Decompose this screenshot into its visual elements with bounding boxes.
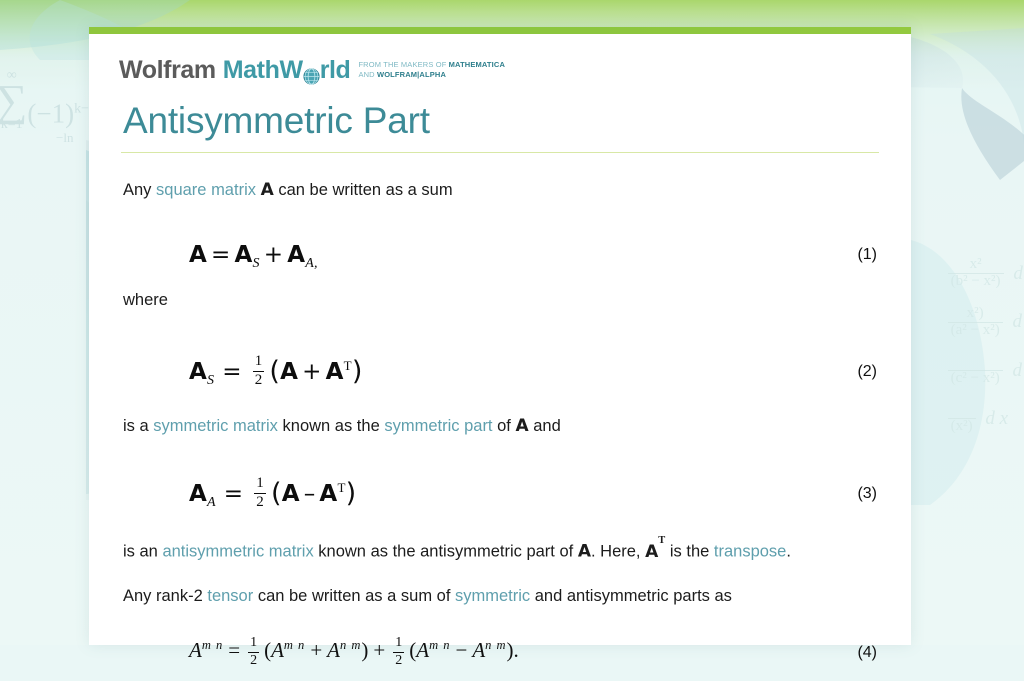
eq2-term2: A (326, 359, 344, 385)
eq4-close-paren-1: ) (361, 638, 368, 662)
paragraph-symmetric: is a symmetric matrix known as the symme… (123, 411, 879, 441)
eq3-equals: = (224, 481, 243, 507)
link-square-matrix[interactable]: square matrix (156, 181, 256, 199)
inline-matrix-A-transpose: AT (645, 542, 665, 562)
tagline-prefix-2: AND (358, 70, 377, 79)
eq4-frac1-num: 1 (248, 636, 259, 651)
eq4-term-4: A (472, 638, 485, 662)
eq4-lhs: A (189, 638, 202, 662)
eq1-term2: A (287, 242, 305, 268)
eq4-frac2-den: 2 (393, 654, 404, 669)
logo-world-w: W (279, 56, 302, 84)
p3-post: and (529, 417, 561, 435)
logo-world-rest: rld (320, 56, 351, 84)
inline-matrix-A: A (578, 542, 591, 562)
eq2-lhs: A (189, 359, 207, 385)
p5-post: and antisymmetric parts as (530, 587, 732, 605)
eq4-operator-2: − (455, 638, 467, 662)
tagline-mathematica: MATHEMATICA (449, 60, 505, 69)
equation-1-number: (1) (857, 246, 877, 264)
p5-pre: Any rank-2 (123, 587, 207, 605)
eq4-frac2-num: 1 (393, 636, 404, 651)
eq4-frac1-bar (248, 652, 259, 653)
link-symmetric-matrix[interactable]: symmetric matrix (153, 417, 278, 435)
eq2-term2-sup: T (344, 358, 352, 373)
p5-mid1: can be written as a sum of (253, 587, 455, 605)
eq3-operator: – (304, 481, 316, 507)
equation-4-number: (4) (857, 644, 877, 662)
eq4-term-4-sup: n m (485, 638, 506, 652)
eq3-open-paren: ( (271, 478, 282, 509)
p4-pre: is an (123, 543, 162, 561)
p4-var2-sup: T (658, 535, 665, 546)
eq1-term1: A (235, 242, 253, 268)
eq2-close-paren: ) (352, 356, 363, 387)
globe-icon (303, 63, 320, 80)
eq1-plus: + (264, 242, 283, 268)
eq3-term2: A (319, 481, 337, 507)
eq4-fraction-half-2: 12 (393, 636, 404, 668)
tagline-line-1: FROM THE MAKERS OF MATHEMATICA (358, 60, 505, 69)
eq3-term1: A (282, 481, 300, 507)
article-card: Wolfram MathW rld FROM THE MAKERS OF MAT… (89, 27, 911, 645)
eq1-term1-sub: S (253, 256, 260, 271)
eq4-frac1-den: 2 (248, 654, 259, 669)
inline-matrix-A: A (261, 180, 274, 200)
eq3-lhs: A (189, 481, 207, 507)
eq4-term-3-sup: m n (429, 638, 450, 652)
eq4-term-1-sup: m n (284, 638, 305, 652)
link-transpose[interactable]: transpose (714, 543, 786, 561)
paragraph-antisymmetric: is an antisymmetric matrix known as the … (123, 533, 879, 567)
equation-1-body: A=AS+AA, (189, 242, 318, 268)
equation-3: AA=12(A–AT) (3) (119, 455, 879, 533)
eq4-equals: = (228, 638, 240, 662)
link-symmetric-part[interactable]: symmetric part (384, 417, 492, 435)
eq4-fraction-half-1: 12 (248, 636, 259, 668)
eq3-close-paren: ) (346, 478, 357, 509)
tagline-prefix-1: FROM THE MAKERS OF (358, 60, 448, 69)
paragraph-where: where (123, 285, 879, 315)
equation-1: A=AS+AA, (1) (119, 225, 879, 285)
logo-tagline: FROM THE MAKERS OF MATHEMATICA AND WOLFR… (358, 60, 505, 79)
equation-2-number: (2) (857, 363, 877, 381)
eq3-fraction-half: 12 (254, 476, 266, 511)
eq4-lhs-sup: m n (202, 638, 223, 652)
eq4-frac2-bar (393, 652, 404, 653)
equation-2: AS=12(A+AT) (2) (119, 333, 879, 411)
eq4-term-1: A (271, 638, 284, 662)
link-tensor[interactable]: tensor (207, 587, 253, 605)
p3-mid2: of (493, 417, 516, 435)
eq3-lhs-sub: A (207, 495, 216, 510)
equation-2-body: AS=12(A+AT) (189, 355, 363, 390)
eq2-operator: + (302, 359, 321, 385)
eq4-term-2: A (327, 638, 340, 662)
eq4-term-3: A (416, 638, 429, 662)
eq2-open-paren: ( (269, 356, 280, 387)
inline-matrix-A: A (515, 416, 528, 436)
p3-mid1: known as the (278, 417, 384, 435)
eq2-term1: A (280, 359, 298, 385)
equation-4: Am n=12(Am n+An m)+12(Am n−An m). (4) (119, 625, 879, 681)
eq3-frac-den: 2 (254, 495, 266, 511)
eq4-period: . (514, 638, 519, 662)
p4-post: . (786, 543, 791, 561)
logo-wolfram-text: Wolfram (119, 56, 216, 84)
p4-mid3: is the (665, 543, 714, 561)
eq4-close-paren-2: ) (507, 638, 514, 662)
card-top-accent-bar (89, 27, 911, 34)
eq3-frac-num: 1 (254, 476, 266, 492)
tagline-wolframalpha: WOLFRAM|ALPHA (377, 70, 446, 79)
eq4-term-2-sup: n m (340, 638, 361, 652)
eq4-operator-1: + (310, 638, 322, 662)
logo-math-text: Math (223, 56, 280, 84)
eq4-plus: + (373, 638, 385, 662)
eq2-equals: = (222, 359, 241, 385)
eq1-comma: , (314, 256, 318, 271)
p4-mid2: . Here, (591, 543, 645, 561)
p3-pre: is a (123, 417, 153, 435)
p4-mid1: known as the antisymmetric part of (314, 543, 578, 561)
eq2-frac-num: 1 (253, 354, 265, 370)
equation-3-number: (3) (857, 485, 877, 503)
p1-post: can be written as a sum (274, 181, 453, 199)
equation-3-body: AA=12(A–AT) (189, 477, 356, 512)
paragraph-intro: Any square matrix A can be written as a … (123, 175, 879, 205)
eq3-term2-sup: T (337, 480, 345, 495)
paragraph-tensor: Any rank-2 tensor can be written as a su… (123, 581, 879, 611)
tagline-line-2: AND WOLFRAM|ALPHA (358, 70, 446, 79)
eq2-lhs-sub: S (207, 373, 214, 388)
title-divider (121, 152, 879, 153)
p4-var2: A (645, 542, 658, 562)
p1-pre: Any (123, 181, 156, 199)
site-logo[interactable]: Wolfram MathW rld FROM THE MAKERS OF MAT… (119, 56, 879, 86)
eq1-term2-sub: A (305, 256, 314, 271)
equation-4-body: Am n=12(Am n+An m)+12(Am n−An m). (189, 636, 519, 668)
page-title: Antisymmetric Part (123, 96, 879, 146)
eq1-equals: = (211, 242, 230, 268)
eq1-lhs: A (189, 242, 207, 268)
link-antisymmetric-matrix[interactable]: antisymmetric matrix (162, 543, 313, 561)
logo-mathworld-text: MathW rld (223, 56, 351, 84)
link-symmetric[interactable]: symmetric (455, 587, 530, 605)
eq2-fraction-half: 12 (253, 354, 265, 389)
eq2-frac-den: 2 (253, 373, 265, 389)
